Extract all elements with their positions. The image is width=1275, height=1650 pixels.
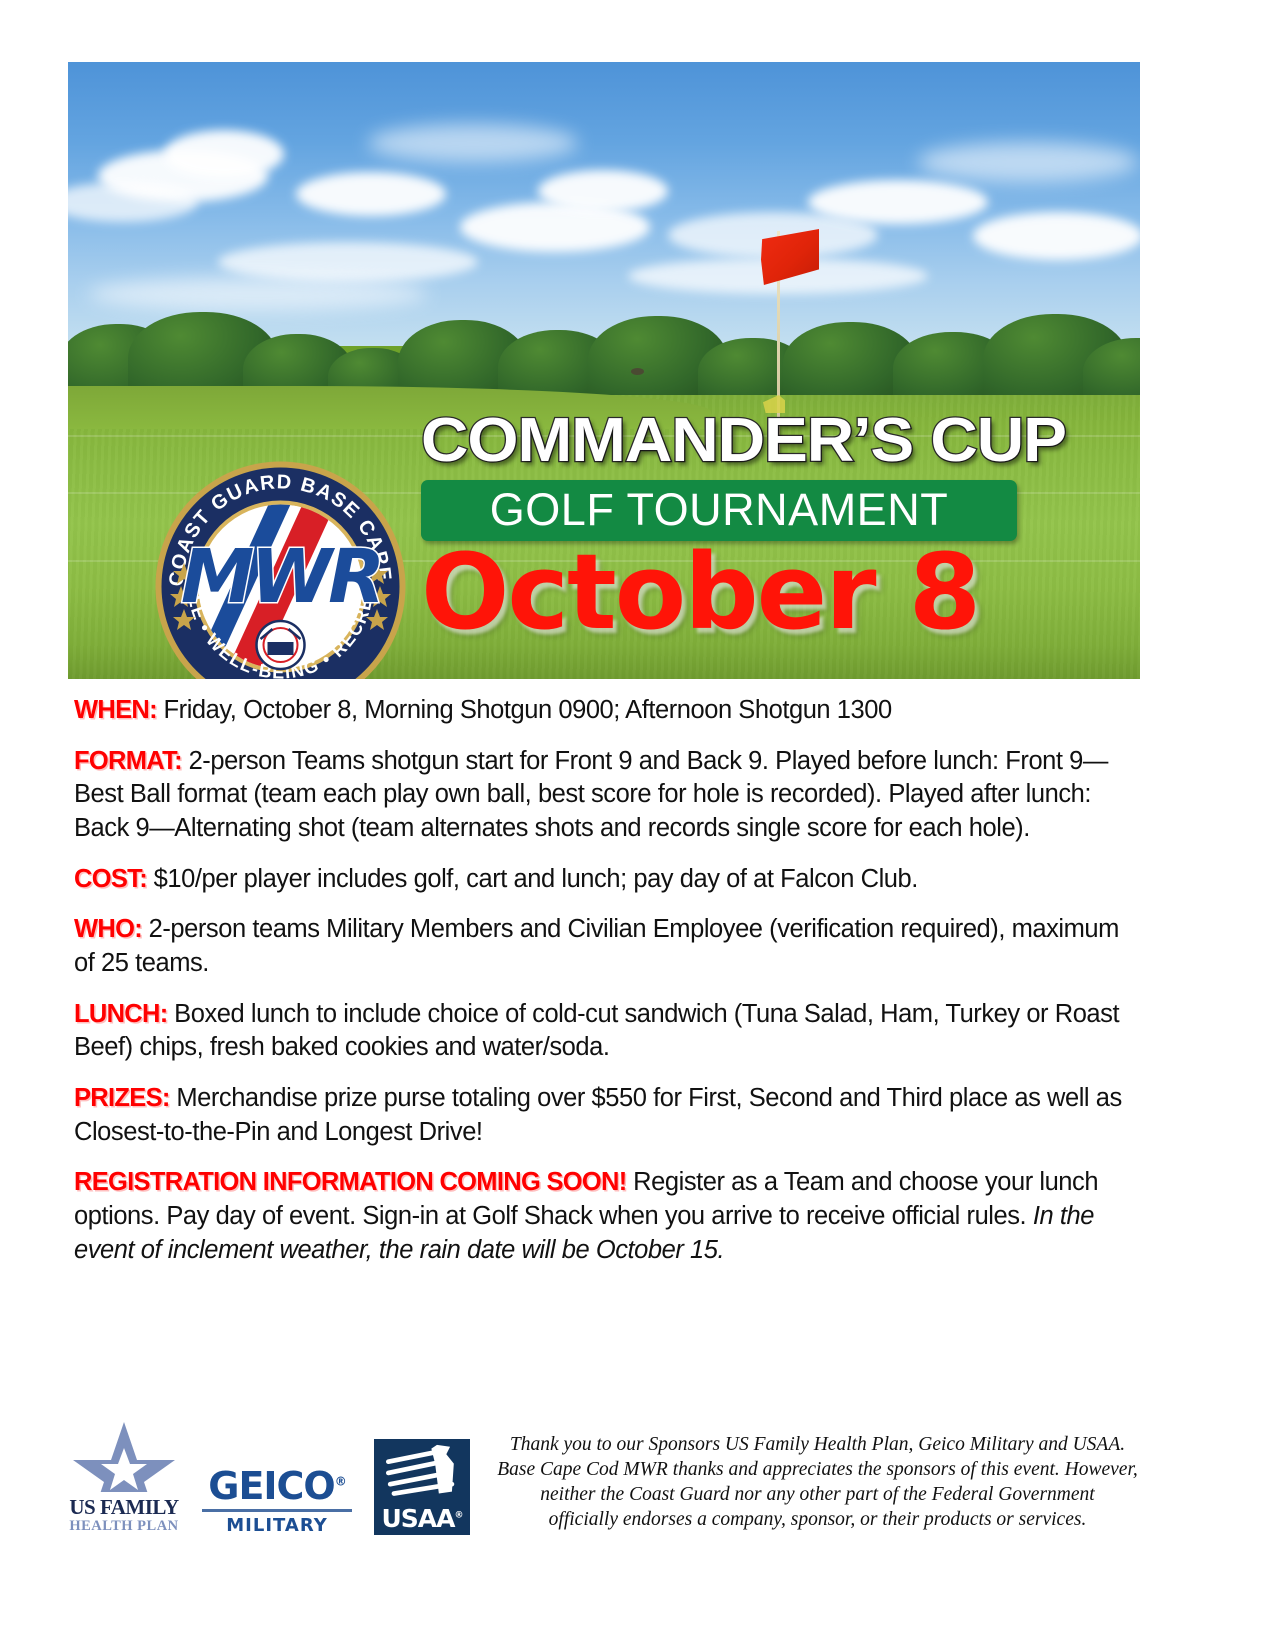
sponsor-line-2: Base Cape Cod MWR thanks and appreciates… <box>492 1458 1143 1483</box>
cloud <box>88 277 428 311</box>
format-label: FORMAT: <box>74 747 182 775</box>
detail-lunch: LUNCH: Boxed lunch to include choice of … <box>74 998 1136 1065</box>
cloud <box>808 180 988 224</box>
prizes-label: PRIZES: <box>74 1084 170 1112</box>
detail-prizes: PRIZES: Merchandise prize purse totaling… <box>74 1082 1136 1149</box>
who-label: WHO: <box>74 915 142 943</box>
usaa-reg-mark: ® <box>455 1510 463 1520</box>
when-text: Friday, October 8, Morning Shotgun 0900;… <box>157 696 892 724</box>
sponsor-line-4: officially endorses a company, sponsor, … <box>492 1508 1143 1533</box>
distant-object <box>631 368 644 375</box>
cloud <box>368 124 578 162</box>
us-family-health-plan-logo: US FAMILY HEALTH PLAN <box>68 1418 180 1535</box>
sponsor-line-3: neither the Coast Guard nor any other pa… <box>492 1483 1143 1508</box>
cloud <box>973 212 1140 260</box>
event-subtitle: GOLF TOURNAMENT <box>431 487 1007 532</box>
cost-label: COST: <box>74 865 147 893</box>
lunch-label: LUNCH: <box>74 1000 168 1028</box>
detail-registration: REGISTRATION INFORMATION COMING SOON! Re… <box>74 1166 1136 1267</box>
star-icon <box>69 1418 179 1492</box>
who-text: 2-person teams Military Members and Civi… <box>74 915 1119 977</box>
format-text: 2-person Teams shotgun start for Front 9… <box>74 747 1108 842</box>
geico-wordmark: GEICO® <box>202 1467 352 1505</box>
usaa-eagle-icon <box>376 1443 468 1501</box>
geico-segment: MILITARY <box>202 1517 352 1535</box>
details-body: WHEN: Friday, October 8, Morning Shotgun… <box>74 694 1136 1267</box>
detail-cost: COST: $10/per player includes golf, cart… <box>74 863 1136 897</box>
when-label: WHEN: <box>74 696 157 724</box>
geico-reg-mark: ® <box>335 1475 346 1489</box>
prizes-text: Merchandise prize purse totaling over $5… <box>74 1084 1122 1146</box>
sponsor-line-1: Thank you to our Sponsors US Family Heal… <box>492 1433 1143 1458</box>
footer: US FAMILY HEALTH PLAN GEICO® MILITARY US… <box>68 1418 1143 1537</box>
cloud <box>164 130 284 178</box>
cost-text: $10/per player includes golf, cart and l… <box>147 865 918 893</box>
geico-military-logo: GEICO® MILITARY <box>202 1467 352 1535</box>
detail-format: FORMAT: 2-person Teams shotgun start for… <box>74 745 1136 846</box>
cloud <box>538 170 668 212</box>
lunch-text: Boxed lunch to include choice of cold-cu… <box>74 1000 1119 1062</box>
usaa-logo: USAA® <box>374 1439 470 1535</box>
cloud <box>296 172 446 216</box>
detail-when: WHEN: Friday, October 8, Morning Shotgun… <box>74 694 1136 728</box>
sponsor-logos: US FAMILY HEALTH PLAN GEICO® MILITARY US… <box>68 1418 470 1537</box>
usaa-wordmark: USAA® <box>381 1506 462 1531</box>
geico-divider <box>202 1509 352 1512</box>
detail-who: WHO: 2-person teams Military Members and… <box>74 913 1136 980</box>
mwr-seal-logo: U.S. COAST GUARD BASE CAPE COD MORALE • … <box>153 459 408 679</box>
cloud <box>918 142 1138 182</box>
sponsor-disclaimer: Thank you to our Sponsors US Family Heal… <box>470 1433 1143 1537</box>
registration-label: REGISTRATION INFORMATION COMING SOON! <box>74 1168 627 1196</box>
usaa-word-text: USAA <box>381 1504 454 1533</box>
geico-word-text: GEICO <box>208 1464 334 1508</box>
title-lockup: COMMANDER’S CUP GOLF TOURNAMENT October … <box>421 410 1021 647</box>
event-title: COMMANDER’S CUP <box>421 410 1057 472</box>
event-date-headline: October 8 <box>421 537 1021 647</box>
svg-text:MWR: MWR <box>181 534 381 620</box>
hero-photo: U.S. COAST GUARD BASE CAPE COD MORALE • … <box>68 62 1140 679</box>
usfhp-name: US FAMILY <box>68 1497 180 1518</box>
cloud <box>218 242 478 282</box>
usfhp-sub: HEALTH PLAN <box>68 1518 180 1535</box>
